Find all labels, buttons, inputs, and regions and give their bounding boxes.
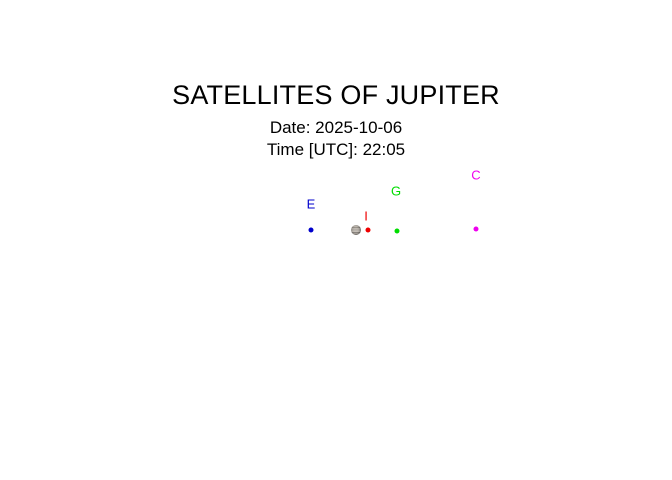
jupiter-planet-disk	[351, 225, 361, 235]
satellite-label-ganymede: G	[391, 185, 401, 198]
sky-field: E I G C	[0, 0, 672, 480]
satellite-dot-ganymede	[395, 229, 400, 234]
satellite-label-europa: E	[307, 198, 316, 211]
satellite-dot-callisto	[474, 227, 479, 232]
satellite-dot-io	[366, 228, 371, 233]
satellite-dot-europa	[309, 228, 314, 233]
satellite-label-callisto: C	[471, 169, 480, 182]
jupiter-satellites-view: SATELLITES OF JUPITER Date: 2025-10-06 T…	[0, 0, 672, 480]
satellite-label-io: I	[364, 210, 368, 223]
